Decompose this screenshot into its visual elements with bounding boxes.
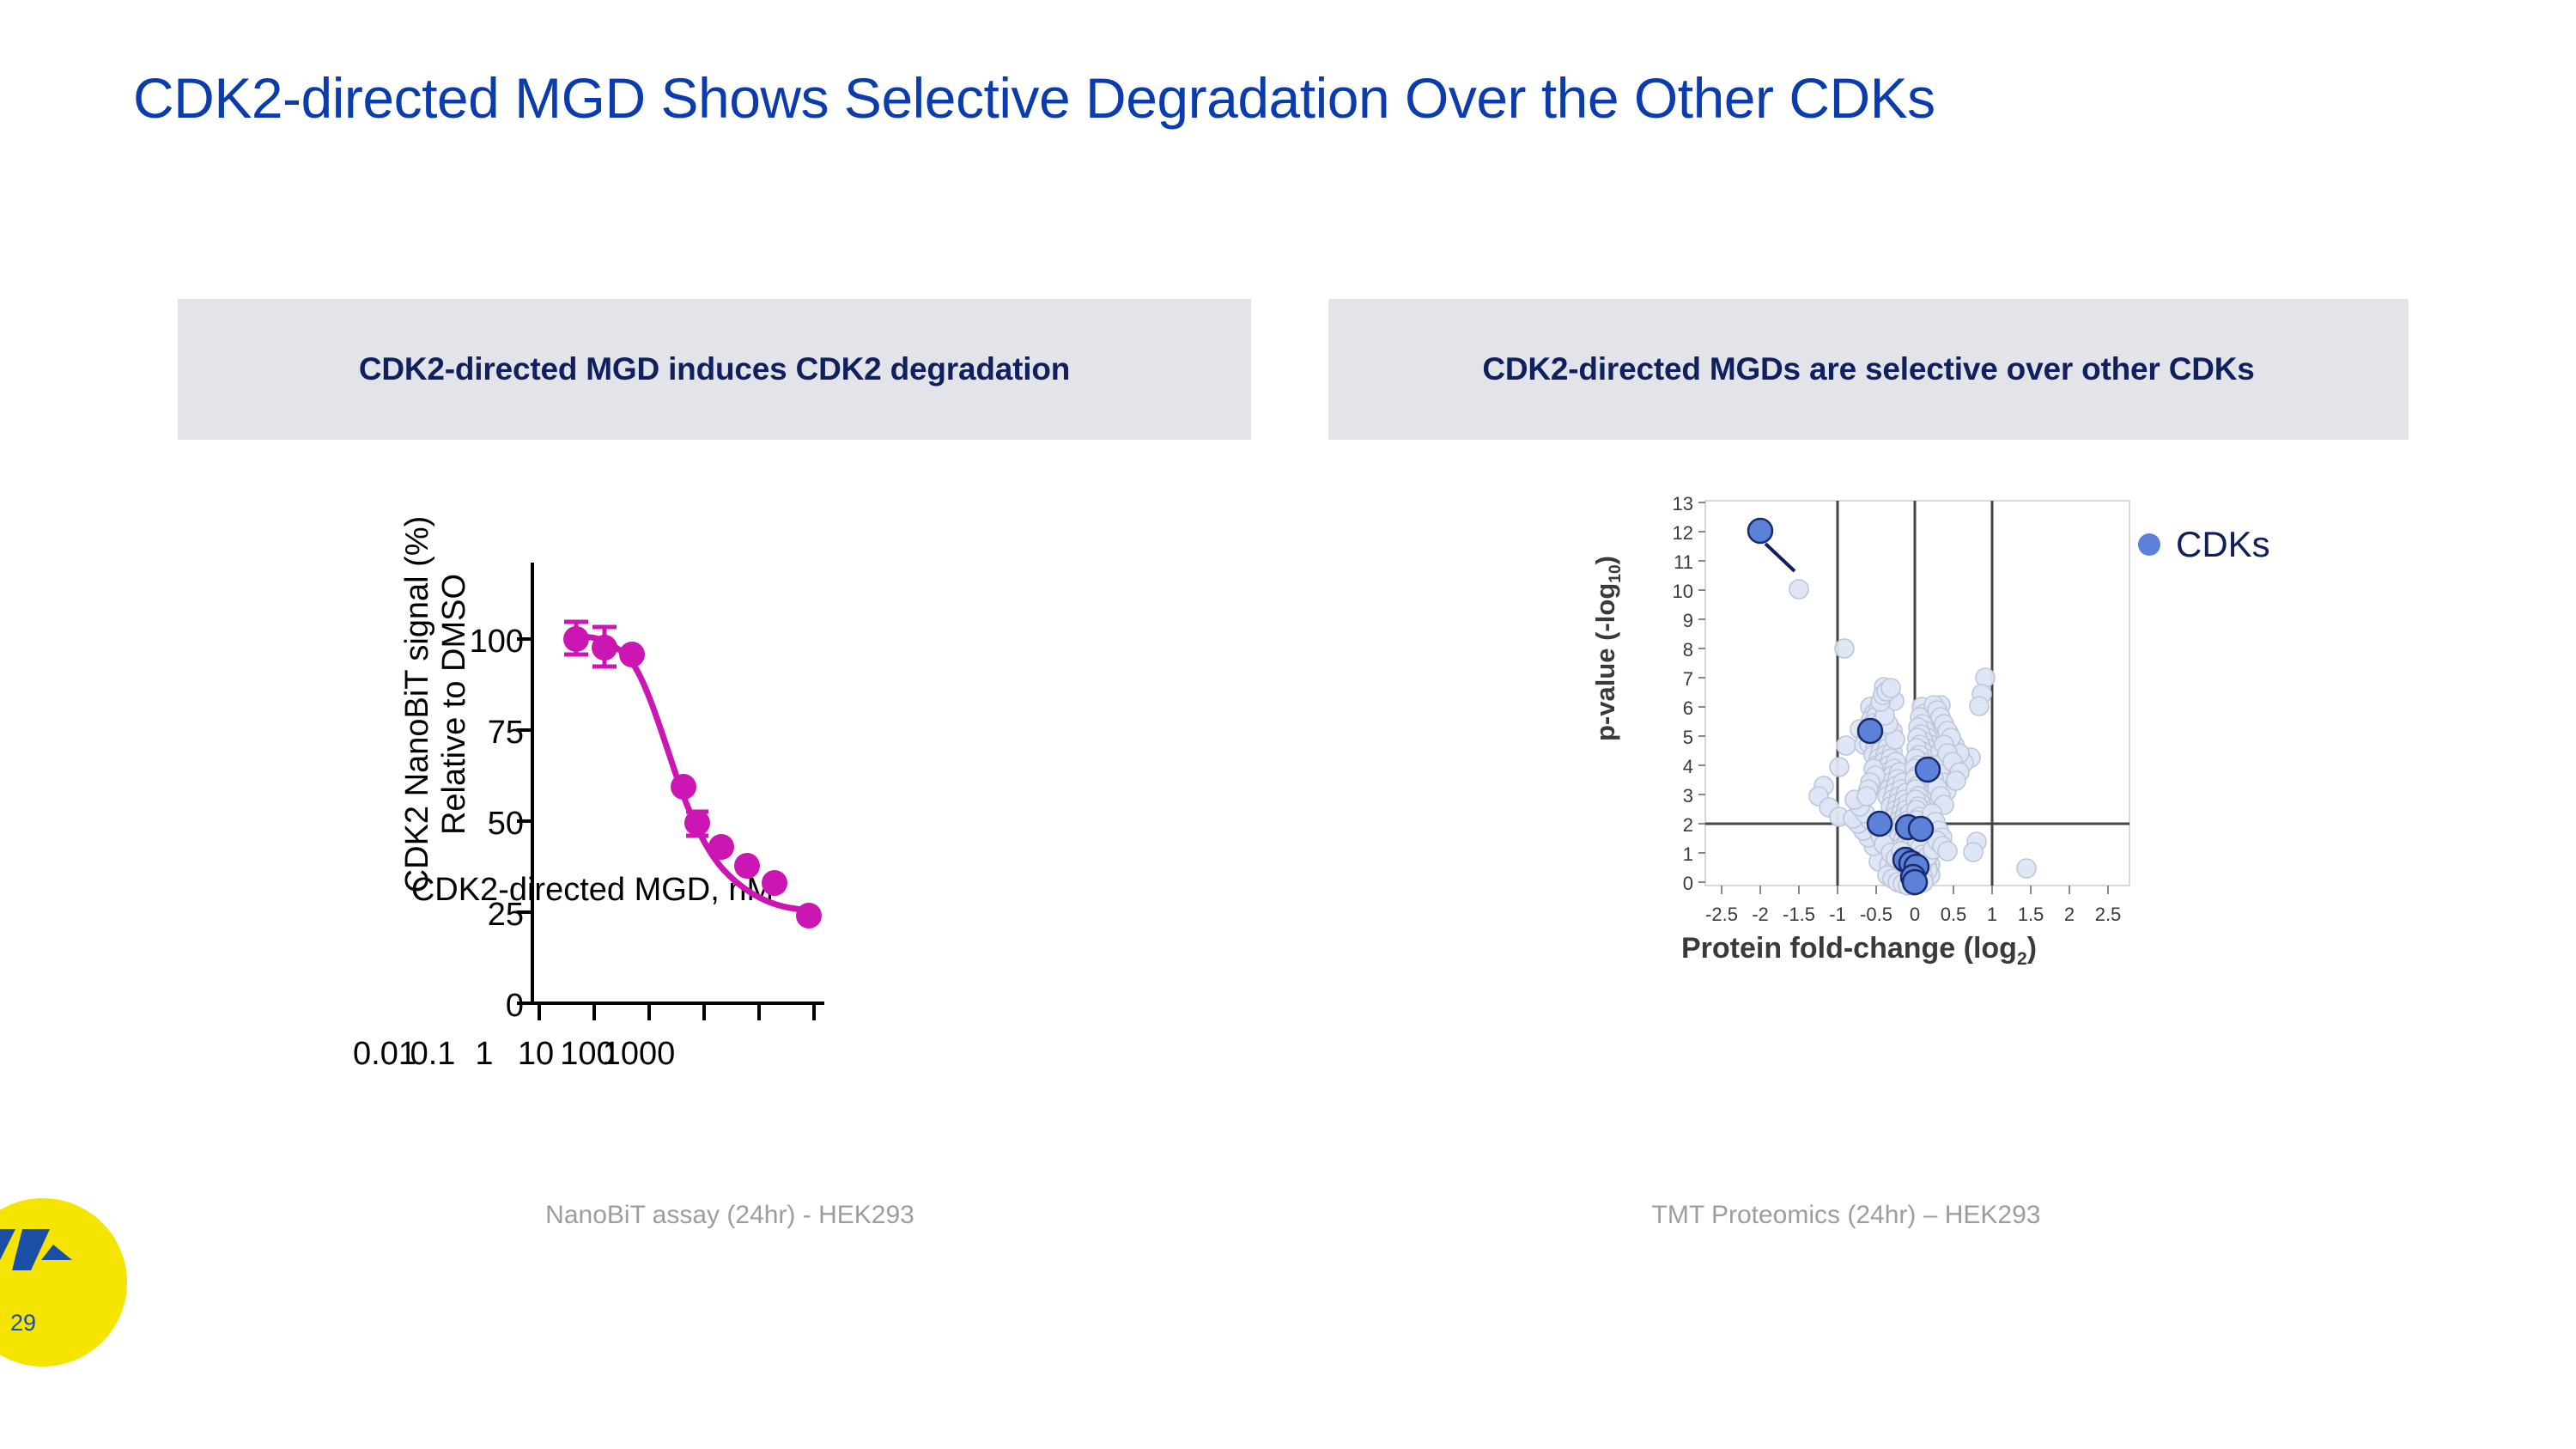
dose-response-plot-svg (326, 533, 1082, 1134)
dose-response-data-points (563, 626, 822, 928)
company-logo-mark (0, 1226, 76, 1286)
panel-header-left: CDK2-directed MGD induces CDK2 degradati… (178, 299, 1251, 440)
volcano-cdk-point-cdk2 (1748, 519, 1772, 543)
panel-header-right: CDK2-directed MGDs are selective over ot… (1328, 299, 2409, 440)
panel-header-left-text: CDK2-directed MGD induces CDK2 degradati… (359, 351, 1070, 387)
dose-response-fit-curve (576, 637, 817, 910)
caption-left: NanoBiT assay (24hr) - HEK293 (369, 1201, 1091, 1230)
volcano-chart: p-value (-log10) Protein fold-change (lo… (1537, 477, 2482, 1147)
panel-header-right-text: CDK2-directed MGDs are selective over ot… (1482, 351, 2254, 387)
dose-response-chart: CDK2 NanoBiT signal (%) Relative to DMSO… (326, 533, 1082, 1134)
page-number: 29 (0, 1310, 88, 1336)
page-title: CDK2-directed MGD Shows Selective Degrad… (133, 67, 2451, 130)
logo-badge: 29 (0, 1198, 127, 1367)
caption-right: TMT Proteomics (24hr) – HEK293 (1485, 1201, 2207, 1230)
volcano-plot-svg (1537, 477, 2482, 958)
